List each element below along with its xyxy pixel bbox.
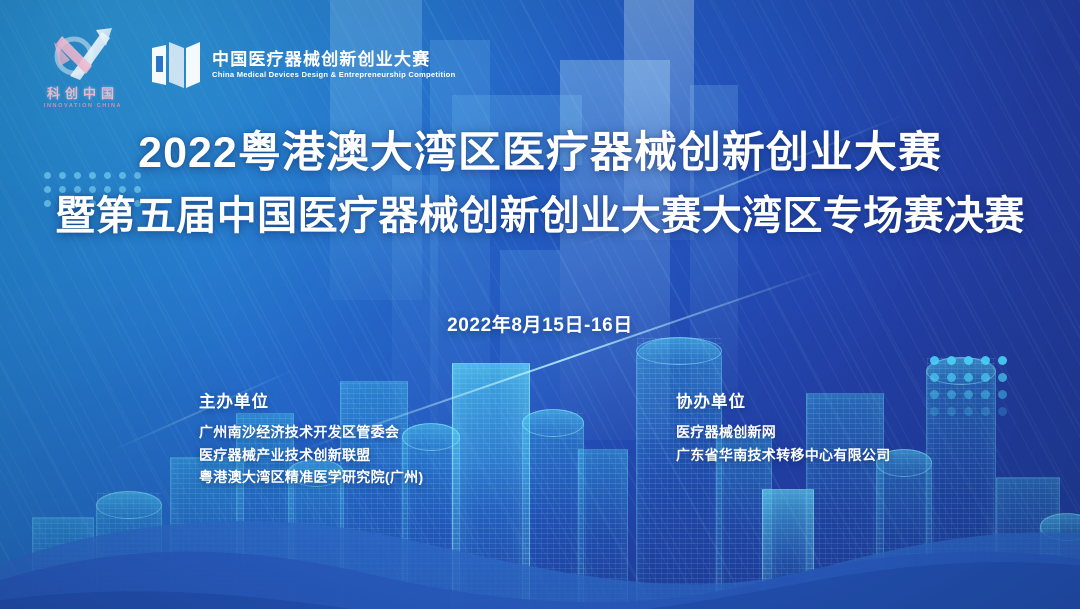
decor-dot <box>964 356 973 365</box>
building-cylinder <box>1040 513 1080 609</box>
decor-panel-7 <box>500 250 560 480</box>
decor-dot <box>981 373 990 382</box>
building-highlight <box>762 489 814 609</box>
decor-dot <box>981 356 990 365</box>
building-cylinder <box>96 491 162 609</box>
open-book-door-icon <box>150 42 200 88</box>
decor-dot <box>964 407 973 416</box>
wave-back <box>0 469 1080 609</box>
decor-dot <box>930 356 939 365</box>
decor-dot <box>998 356 1007 365</box>
event-poster: 科创中国 INNOVATION CHINA 中国医疗器械创新创业大赛 China… <box>0 0 1080 609</box>
kechuang-label-cn: 科创中国 <box>40 83 126 102</box>
header-logos: 科创中国 INNOVATION CHINA 中国医疗器械创新创业大赛 China… <box>40 26 455 104</box>
event-date: 2022年8月15日-16日 <box>0 310 1080 337</box>
organizer-host-item: 医疗器械产业技术创新联盟 <box>199 444 423 467</box>
organizer-host-heading: 主办单位 <box>199 388 423 412</box>
cmd-label-en: China Medical Devices Design & Entrepren… <box>212 71 455 79</box>
kechuang-wordmark: 科创中国 INNOVATION CHINA <box>40 83 126 109</box>
wave-mid <box>0 491 1080 609</box>
building <box>32 517 94 609</box>
decor-dot <box>998 390 1007 399</box>
decor-dot <box>981 407 990 416</box>
building-cylinder <box>876 449 932 609</box>
wave-front <box>0 519 1080 609</box>
dot-grid-right <box>930 356 1015 424</box>
organizer-coorganizer-heading: 协办单位 <box>676 388 891 412</box>
decor-dot <box>964 373 973 382</box>
cmd-wordmark: 中国医疗器械创新创业大赛 China Medical Devices Desig… <box>212 51 455 79</box>
organizer-coorganizer: 协办单位 医疗器械创新网 广东省华南技术转移中心有限公司 <box>676 388 891 466</box>
organizer-coorganizer-item: 医疗器械创新网 <box>676 421 891 444</box>
decor-dot <box>947 356 956 365</box>
decor-dot <box>947 390 956 399</box>
decor-dot <box>981 390 990 399</box>
title-line-2: 暨第五届中国医疗器械创新创业大赛大湾区专场赛决赛 <box>0 191 1080 241</box>
china-medical-devices-competition-logo: 中国医疗器械创新创业大赛 China Medical Devices Desig… <box>150 42 455 88</box>
decor-panel-2 <box>430 40 490 470</box>
decor-dot <box>964 390 973 399</box>
kechuang-label-en: INNOVATION CHINA <box>40 103 126 109</box>
decor-dot <box>930 390 939 399</box>
title-line-1: 2022粤港澳大湾区医疗器械创新创业大赛 <box>0 128 1080 179</box>
organizer-host-item: 广州南沙经济技术开发区管委会 <box>199 421 423 444</box>
decor-dot <box>947 407 956 416</box>
building-cylinder <box>636 337 722 609</box>
building-cylinder <box>926 357 996 609</box>
building-cylinder <box>522 409 584 609</box>
organizer-coorganizer-item: 广东省华南技术转移中心有限公司 <box>676 444 891 467</box>
decor-dot <box>998 373 1007 382</box>
cmd-label-cn: 中国医疗器械创新创业大赛 <box>212 51 455 69</box>
organizer-host: 主办单位 广州南沙经济技术开发区管委会 医疗器械产业技术创新联盟 粤港澳大湾区精… <box>199 388 423 489</box>
decor-dot <box>947 373 956 382</box>
building <box>996 477 1060 609</box>
decor-dot <box>930 407 939 416</box>
organizer-host-item: 粤港澳大湾区精准医学研究院(广州) <box>199 466 423 489</box>
decor-panel-4 <box>560 60 670 440</box>
kechuang-bird-icon <box>40 26 126 82</box>
building-highlight <box>452 363 530 609</box>
decor-dot <box>998 407 1007 416</box>
building <box>578 449 628 609</box>
decor-dot <box>930 373 939 382</box>
kechuang-zhongguo-logo: 科创中国 INNOVATION CHINA <box>40 26 126 104</box>
poster-title-block: 2022粤港澳大湾区医疗器械创新创业大赛 暨第五届中国医疗器械创新创业大赛大湾区… <box>0 128 1080 241</box>
